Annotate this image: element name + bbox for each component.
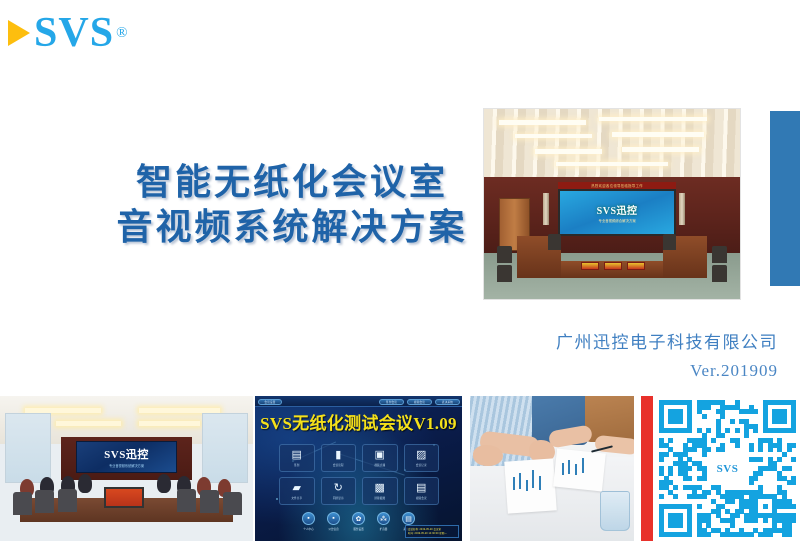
- tile-video-conference[interactable]: ▤ 视频会议: [404, 477, 440, 505]
- monitor-icon: ▣: [375, 450, 385, 461]
- led-display: SVS迅控 专业音视频综合解决方案: [558, 189, 676, 237]
- tile-label: 文件共享: [291, 496, 302, 500]
- folder-icon: ▰: [293, 483, 301, 494]
- tile-video-on-demand[interactable]: ▣ 视频点播: [362, 444, 398, 472]
- page-title: 智能无纸化会议室 音视频系统解决方案: [96, 160, 488, 250]
- nav-service-settings[interactable]: ✿ 服务设置: [352, 512, 365, 531]
- tile-signin[interactable]: ▤ 签到: [279, 444, 315, 472]
- chair: [548, 234, 561, 249]
- chart-bar: [513, 477, 515, 490]
- ceiling-light: [56, 421, 122, 426]
- led-brand-text: SVS迅控: [104, 446, 149, 462]
- ceiling-light: [499, 120, 586, 125]
- tile-label: 视频会议: [416, 496, 427, 500]
- tile-label: 会议记录: [416, 463, 427, 467]
- meeting-settings-button[interactable]: 会议设置: [258, 399, 282, 405]
- tile-label: 会议议程: [333, 463, 344, 467]
- business-discussion-photo: [470, 396, 634, 541]
- document-icon: ▮: [335, 450, 341, 461]
- attendee: [78, 474, 92, 493]
- ceiling-light: [535, 149, 602, 154]
- nav-amplifier[interactable]: ⁂ 扩音器: [377, 512, 390, 531]
- meeting-info-box: 会议名称: 2019-05-20 会议室 时间: 2019-05-20 14:3…: [405, 525, 459, 538]
- right-accent-bar: [770, 111, 800, 286]
- ceiling-light: [515, 134, 592, 139]
- registered-mark-icon: ®: [116, 25, 127, 42]
- led-sub-text: 专业音视频综合解决方案: [598, 218, 635, 223]
- clipboard-icon: ▤: [292, 450, 302, 461]
- ceiling-light: [599, 117, 707, 122]
- video-meeting-button[interactable]: 视频会议: [407, 399, 432, 405]
- video-icon: ▤: [416, 483, 426, 494]
- red-accent-bar: [641, 396, 653, 541]
- chair: [712, 246, 727, 263]
- chart-bar: [539, 476, 541, 490]
- user-icon: ▪: [302, 512, 315, 525]
- chair: [223, 492, 242, 515]
- decor-dot: [276, 498, 278, 500]
- desk-flag: [581, 262, 599, 271]
- wall-column: [543, 193, 549, 225]
- logo-text: SVS: [34, 12, 114, 54]
- settings-icon: ▤: [402, 512, 415, 525]
- tile-label: 视频点播: [374, 463, 385, 467]
- meeting-room-photo: SVS迅控 专业音视频系统解决方案: [0, 396, 253, 541]
- company-name: 广州迅控电子科技有限公司: [556, 328, 778, 353]
- bottom-image-strip: SVS迅控 专业音视频系统解决方案 会议设置 签到会议 视频会议: [0, 396, 800, 541]
- camera-icon: ▩: [375, 483, 385, 494]
- tile-label: 同屏显示: [333, 496, 344, 500]
- chair: [663, 234, 676, 249]
- play-triangle-icon: [8, 20, 30, 46]
- ceiling-light: [139, 421, 200, 426]
- qr-center-text: SVS: [717, 463, 739, 475]
- chair: [200, 490, 219, 513]
- version-label: Ver.201909: [690, 361, 778, 381]
- paperless-software-ui: 会议设置 签到会议 视频会议 表决系统 SVS无纸化测试会议V1.09 ▤ 签到…: [255, 396, 462, 541]
- refresh-icon: ↻: [334, 483, 343, 494]
- board-icon: ▪: [327, 512, 340, 525]
- tile-file-share[interactable]: ▰ 文件共享: [279, 477, 315, 505]
- signin-meeting-button[interactable]: 签到会议: [379, 399, 404, 405]
- chair: [497, 265, 512, 282]
- meeting-info-line-2: 时间: 2019-05-20 14:30:00 星期一: [408, 532, 456, 535]
- app-top-bar: 会议设置 签到会议 视频会议 表决系统: [255, 396, 462, 407]
- desktop-display: [104, 487, 144, 507]
- note-icon: ▨: [416, 450, 426, 461]
- qr-code-block: SVS: [640, 396, 800, 541]
- chair: [712, 265, 727, 282]
- chair: [58, 489, 77, 512]
- vote-system-button[interactable]: 表决系统: [435, 399, 460, 405]
- water-glass: [600, 491, 630, 531]
- title-line-1: 智能无纸化会议室: [136, 162, 448, 203]
- chart-bar: [519, 473, 521, 489]
- desk-flag: [604, 262, 622, 271]
- chart-bar: [568, 460, 570, 474]
- window: [5, 413, 51, 483]
- nav-personal-center[interactable]: ▪ 个人中心: [302, 512, 315, 531]
- svs-logo: SVS ®: [8, 10, 127, 56]
- gear-icon: ✿: [352, 512, 365, 525]
- person-arm: [594, 434, 634, 454]
- chart-bar: [562, 463, 564, 475]
- ceiling-light: [556, 162, 669, 166]
- chair: [35, 490, 54, 513]
- led-brand-text: SVS迅控: [597, 202, 638, 217]
- window: [202, 413, 248, 483]
- app-title: SVS无纸化测试会议V1.09: [255, 409, 462, 434]
- tile-label: 签到: [294, 463, 299, 467]
- led-display: SVS迅控 专业音视频系统解决方案: [76, 441, 177, 473]
- title-line-2: 音视频系统解决方案: [96, 205, 488, 250]
- resting-hand: [473, 445, 503, 465]
- nav-label: 个人中心: [303, 527, 313, 531]
- nav-label: 公告信息: [328, 527, 338, 531]
- tile-minutes[interactable]: ▨ 会议记录: [404, 444, 440, 472]
- chair: [13, 492, 32, 515]
- nav-label: 扩音器: [380, 527, 388, 531]
- chart-bar: [532, 470, 534, 488]
- hero-conference-room-image: 热烈欢迎各位领导莅临指导工作 SVS迅控 专业音视频综合解决方案: [483, 108, 741, 300]
- chart-bar: [526, 480, 528, 491]
- chart-bar: [575, 464, 577, 475]
- qr-code[interactable]: SVS: [659, 400, 796, 537]
- network-icon: ⁂: [377, 512, 390, 525]
- tile-agenda[interactable]: ▮ 会议议程: [321, 444, 357, 472]
- qr-center-logo: SVS: [708, 456, 748, 482]
- chair: [177, 489, 196, 512]
- chair: [497, 246, 512, 263]
- tile-screen-mirror[interactable]: ↻ 同屏显示: [321, 477, 357, 505]
- desk-flag: [627, 262, 645, 271]
- function-tile-grid: ▤ 签到 ▮ 会议议程 ▣ 视频点播 ▨ 会议记录 ▰ 文件共享 ↻ 同屏显示: [279, 444, 439, 505]
- ceiling-light: [612, 132, 704, 137]
- tile-screenshot[interactable]: ▩ 屏幕截图: [362, 477, 398, 505]
- wall-column: [679, 193, 685, 225]
- chart-bar: [582, 458, 584, 473]
- nav-announcements[interactable]: ▪ 公告信息: [327, 512, 340, 531]
- tile-label: 屏幕截图: [374, 496, 385, 500]
- ceiling-light: [622, 147, 699, 152]
- led-sub-text: 专业音视频系统解决方案: [109, 463, 144, 468]
- nav-label: 服务设置: [353, 527, 363, 531]
- attendee: [157, 474, 171, 493]
